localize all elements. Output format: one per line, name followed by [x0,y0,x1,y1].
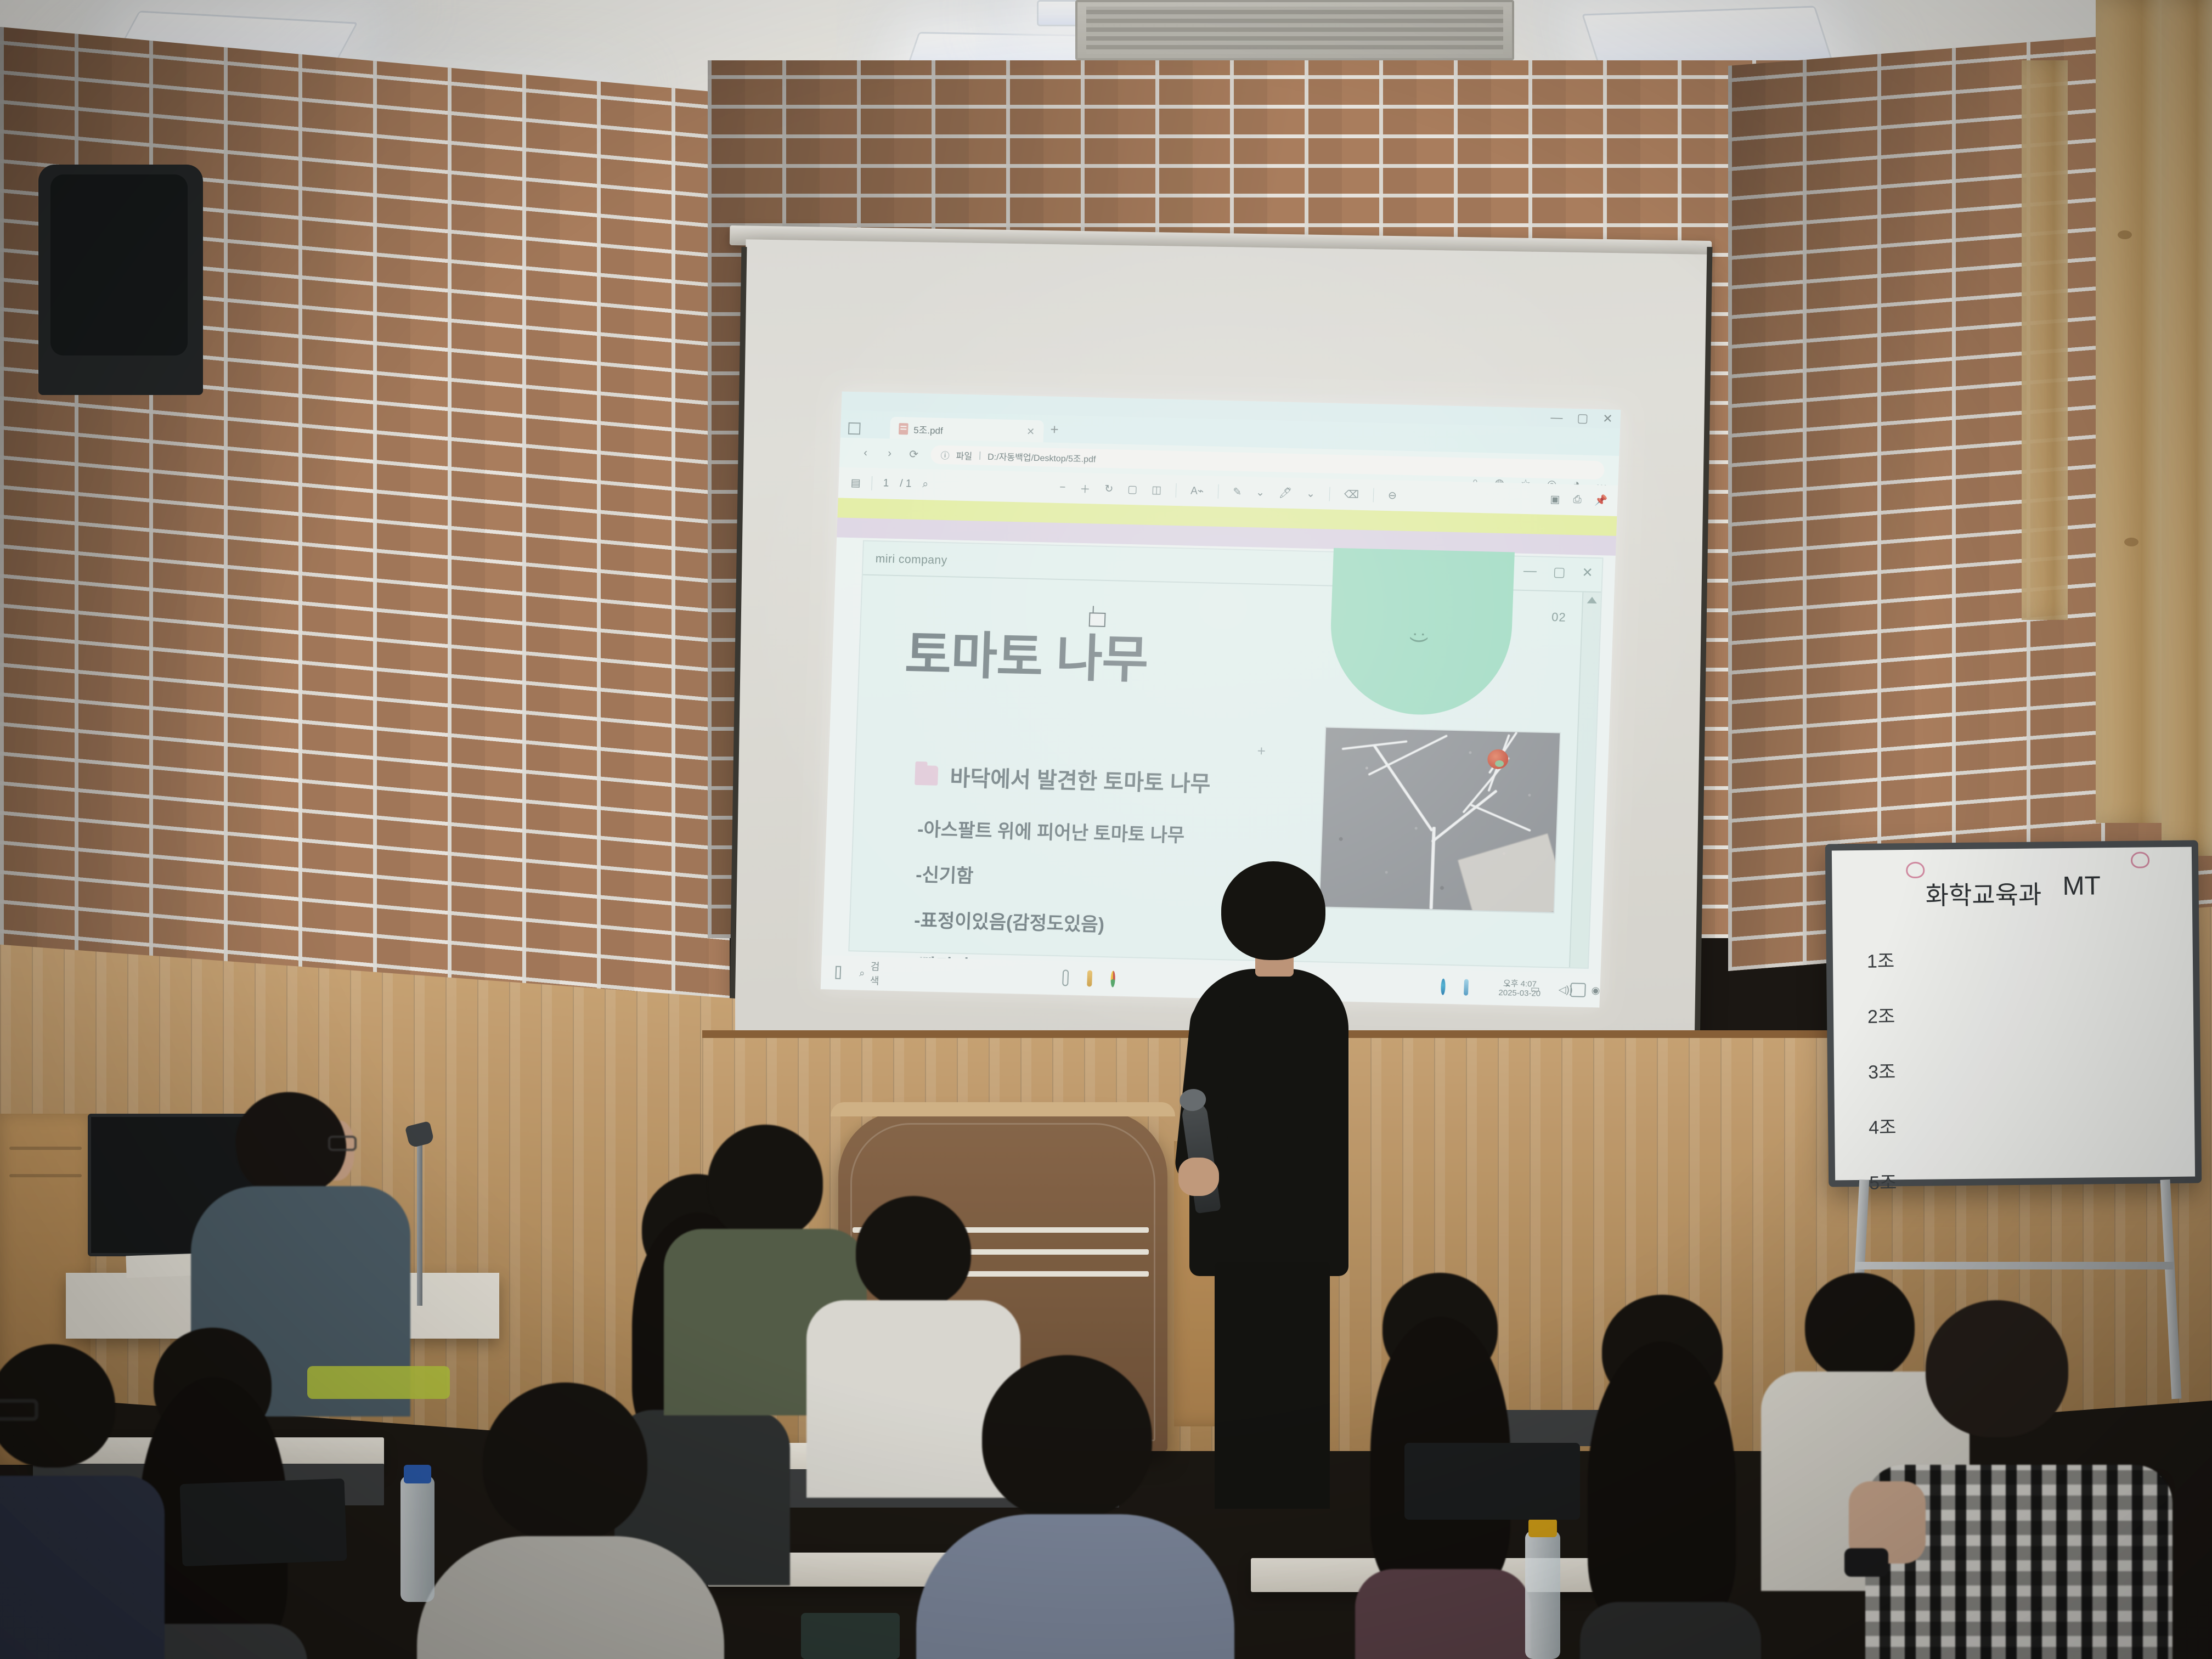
hand [1178,1158,1219,1196]
microphone-stand [417,1141,422,1306]
wood-beam-corner [2022,60,2068,620]
whiteboard: 화학교육과 MT 1조 2조 3조 4조 5조 [1825,840,2202,1187]
whiteboard-team-list: 1조 2조 3조 4조 5조 [1867,946,1897,1195]
zoom-in-icon[interactable]: ＋ [1080,481,1091,495]
hair [1588,1341,1736,1627]
torso [916,1514,1234,1659]
pin-icon[interactable]: 📌 [1594,494,1608,507]
folder-icon [915,765,938,786]
save-icon[interactable]: ▣ [1550,493,1560,506]
student-presenter [1185,861,1350,1509]
forward-icon[interactable]: › [882,446,897,461]
slide-page-number: 02 [1551,610,1566,625]
close-icon[interactable]: ✕ [1582,565,1593,580]
close-icon[interactable]: ✕ [1602,411,1613,426]
pdf-toolbar-center: − ＋ ↻ ▢ ◫ A⌁ ✎ ⌄ 🖊 ⌄ ⌫ ⊖ [1059,480,1397,503]
text-cursor-icon [1089,606,1106,626]
read-aloud-icon[interactable]: A⌁ [1190,484,1204,498]
back-icon[interactable]: ‹ [858,445,873,460]
minimize-icon[interactable]: — [1550,410,1563,425]
url-separator: | [979,450,981,460]
browser-window-controls[interactable]: — ▢ ✕ [1550,410,1613,426]
page-thumbnails-icon[interactable]: ▤ [850,477,861,489]
office-chair-back [50,174,188,356]
notification-icon[interactable] [1570,983,1586,997]
pdf-search-icon[interactable]: ⌕ [922,478,928,490]
whiteboard-title: 화학교육과 [1925,874,2041,912]
laptop [179,1479,347,1566]
torso [1355,1569,1531,1659]
start-icon[interactable] [835,966,840,979]
list-item: -신기함 [915,860,1183,893]
water-bottle [400,1476,435,1602]
url-text: D:/자동백업/Desktop/5조.pdf [988,449,1096,465]
flower-sticker-icon [2131,851,2149,868]
flower-sticker-icon [1906,862,1925,878]
draw-icon[interactable]: ✎ [1233,486,1242,498]
water-bottle [1525,1531,1560,1659]
list-item: 2조 [1867,1001,1895,1029]
pdf-file-icon [899,423,909,435]
legs [1215,1262,1330,1509]
taskbar-search[interactable]: ⌕ 검색 [859,959,880,988]
slide-photo [1319,726,1561,913]
ask-copilot-icon[interactable]: ⊖ [1388,489,1397,502]
maximize-icon[interactable]: ▢ [1553,564,1566,580]
chrome-icon[interactable] [1110,970,1115,987]
reload-icon[interactable]: ⟳ [906,447,921,461]
presentation-scrollbar[interactable] [1569,592,1601,967]
torso [1580,1602,1761,1659]
draw-options-chevron-down-icon[interactable]: ⌄ [1256,486,1265,499]
pdf-toolbar-left: ▤ 1 / 1 ⌕ [838,475,928,492]
head [1221,861,1325,960]
chair-accent [307,1366,450,1399]
maximize-icon[interactable]: ▢ [1577,411,1589,425]
highlight-icon[interactable]: 🖊 [1279,486,1293,500]
slide-title: 토마토 나무 [904,613,1149,692]
head [483,1383,647,1542]
torso [0,1476,165,1659]
bottle-cap-icon [1528,1519,1557,1537]
scroll-up-arrow-icon[interactable] [1587,597,1597,603]
head [1805,1273,1915,1380]
head [1926,1300,2068,1437]
minimize-icon[interactable]: — [1523,563,1537,580]
tablet [801,1613,900,1659]
zoom-out-icon[interactable]: − [1059,482,1066,494]
head [856,1196,971,1308]
search-icon: ⌕ [859,967,865,979]
clock-time: 오후 4:07 [1499,979,1541,989]
search-placeholder: 검색 [870,959,879,988]
tab-close-icon[interactable]: ✕ [1026,426,1035,437]
onedrive-icon[interactable] [1464,979,1469,996]
list-item: 1조 [1867,946,1895,973]
head [708,1125,823,1240]
presentation-window-controls[interactable]: — ▢ ✕ [1523,563,1593,581]
list-item: 5조 [1869,1167,1897,1195]
smartwatch-icon [1844,1548,1888,1577]
head [982,1355,1152,1520]
pdf-toolbar-right: ▣ ⎙ 📌 [1550,493,1608,507]
file-explorer-icon[interactable] [1087,970,1092,986]
list-item: -아스팔트 위에 피어난 토마토 나무 [917,814,1185,847]
whiteboard-title-suffix: MT [2062,871,2101,901]
tab-title: 5조.pdf [913,422,943,436]
glasses-icon [0,1399,38,1421]
wood-beam [2162,0,2212,856]
wood-beam [2096,0,2162,823]
lectern-top-edge [831,1102,1175,1116]
page-view-icon[interactable]: ▢ [1127,483,1138,495]
list-item: -표정이있음(감정도있음) [914,905,1182,938]
clock-date: 2025-03-20 [1498,988,1541,998]
taskbar-clock[interactable]: 오후 4:07 2025-03-20 [1498,979,1541,998]
slide-brand-label: miri company [875,552,947,567]
two-page-view-icon[interactable]: ◫ [1152,483,1162,496]
new-tab-button[interactable]: + [1050,421,1059,438]
info-icon[interactable]: ⓘ [940,448,950,461]
bottle-cap-icon [404,1465,431,1483]
ceiling-vent-slats [1086,7,1503,54]
edge-icon[interactable] [1441,979,1446,995]
highlight-options-chevron-down-icon[interactable]: ⌄ [1306,487,1316,500]
plus-decoration: + [1257,743,1266,760]
pdf-page-count: / 1 [900,478,912,490]
tab-actions-icon[interactable] [848,422,861,435]
list-item: 3조 [1868,1057,1896,1084]
print-icon[interactable]: ⎙ [1573,494,1582,506]
slide-section-heading-text: 바닥에서 발견한 토마토 나무 [950,760,1211,798]
lecture-room-scene: — ▢ ✕ 5조.pdf ✕ + ‹ › ⟳ ⓘ [0,0,2212,1659]
erase-icon[interactable]: ⌫ [1344,488,1359,501]
fit-page-icon[interactable]: ↻ [1104,482,1114,495]
url-scheme-label: 파일 [956,449,972,462]
laptop [1404,1443,1580,1520]
list-item: 4조 [1869,1112,1897,1139]
mint-blob-decoration: :) [1328,548,1515,717]
whiteboard-stand-crossbar [1855,1262,2174,1269]
battery-icon[interactable]: ◉ [1591,985,1600,996]
task-view-icon[interactable] [1062,969,1069,986]
glasses-icon [328,1136,357,1151]
smiley-face-decoration: :) [1409,631,1431,644]
pdf-page-field[interactable]: 1 [883,477,889,489]
slide-section-heading: 바닥에서 발견한 토마토 나무 [915,759,1211,798]
